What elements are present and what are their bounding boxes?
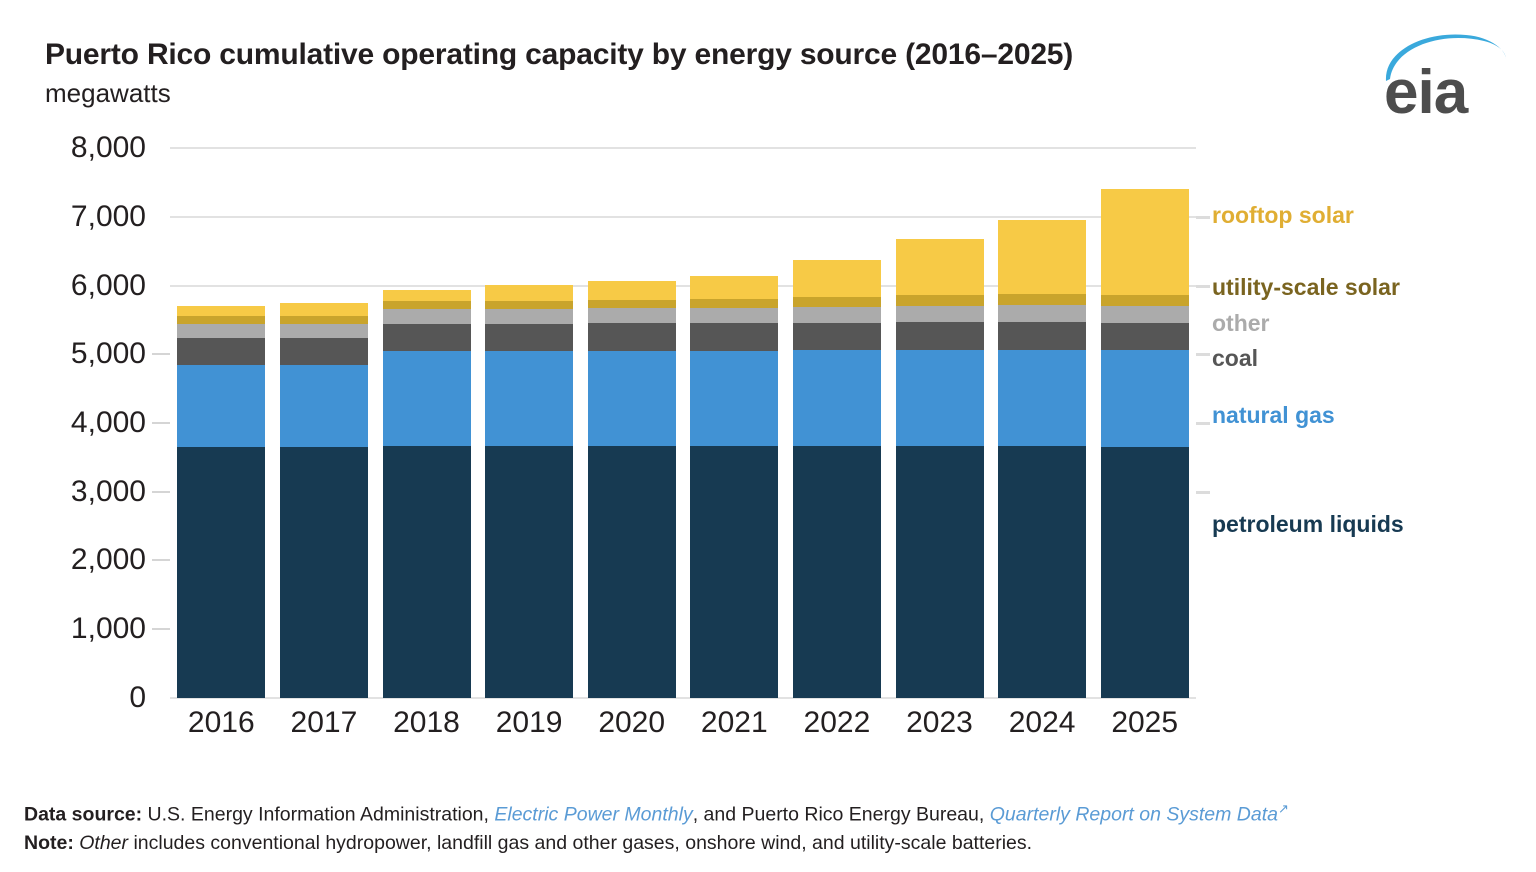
data-source-text-1: U.S. Energy Information Administration, — [148, 804, 489, 826]
y-axis-label-7000: 7,000 — [26, 200, 146, 234]
segment-other-2017[interactable] — [280, 324, 368, 338]
segment-rooftop-solar-2016[interactable] — [177, 306, 265, 316]
note-label: Note: — [24, 832, 74, 854]
data-source-line: Data source: U.S. Energy Information Adm… — [24, 800, 1484, 829]
segment-utility-scale-solar-2021[interactable] — [690, 299, 778, 308]
note-other-italic: Other — [79, 832, 128, 854]
segment-rooftop-solar-2024[interactable] — [998, 220, 1086, 295]
y-axis-label-8000: 8,000 — [26, 131, 146, 165]
segment-other-2020[interactable] — [588, 308, 676, 323]
segment-other-2021[interactable] — [690, 308, 778, 323]
electric-power-monthly-link[interactable]: Electric Power Monthly — [494, 804, 692, 826]
segment-natural-gas-2022[interactable] — [793, 350, 881, 446]
segment-coal-2018[interactable] — [383, 324, 471, 352]
segment-other-2025[interactable] — [1101, 306, 1189, 323]
segment-other-2018[interactable] — [383, 309, 471, 324]
segment-natural-gas-2020[interactable] — [588, 351, 676, 446]
segment-natural-gas-2024[interactable] — [998, 350, 1086, 446]
bar-group — [170, 148, 1196, 698]
segment-utility-scale-solar-2023[interactable] — [896, 295, 984, 306]
segment-petroleum-liquids-2022[interactable] — [793, 446, 881, 698]
x-axis-label-2020: 2020 — [580, 706, 684, 740]
tick-1000 — [152, 628, 170, 630]
segment-coal-2022[interactable] — [793, 323, 881, 351]
segment-petroleum-liquids-2016[interactable] — [177, 447, 265, 698]
segment-rooftop-solar-2018[interactable] — [383, 290, 471, 301]
segment-petroleum-liquids-2023[interactable] — [896, 446, 984, 698]
segment-petroleum-liquids-2020[interactable] — [588, 446, 676, 698]
segment-natural-gas-2018[interactable] — [383, 351, 471, 446]
legend-item-natural-gas[interactable]: natural gas — [1212, 402, 1335, 429]
segment-coal-2019[interactable] — [485, 324, 573, 352]
footer-notes: Data source: U.S. Energy Information Adm… — [24, 800, 1484, 857]
segment-rooftop-solar-2017[interactable] — [280, 303, 368, 316]
x-axis-label-2016: 2016 — [169, 706, 273, 740]
data-source-label: Data source: — [24, 804, 142, 826]
tick-5000 — [152, 353, 170, 355]
legend-tick-utility-scale-solar — [1196, 285, 1210, 288]
segment-coal-2025[interactable] — [1101, 323, 1189, 351]
segment-other-2016[interactable] — [177, 324, 265, 338]
segment-coal-2024[interactable] — [998, 322, 1086, 350]
external-link-icon: ↗ — [1278, 801, 1289, 816]
segment-rooftop-solar-2019[interactable] — [485, 285, 573, 301]
y-axis-label-2000: 2,000 — [26, 543, 146, 577]
segment-petroleum-liquids-2018[interactable] — [383, 446, 471, 698]
tick-4000 — [152, 422, 170, 424]
x-axis-label-2023: 2023 — [888, 706, 992, 740]
segment-petroleum-liquids-2025[interactable] — [1101, 447, 1189, 698]
y-axis-label-3000: 3,000 — [26, 475, 146, 509]
segment-rooftop-solar-2025[interactable] — [1101, 189, 1189, 296]
segment-utility-scale-solar-2017[interactable] — [280, 316, 368, 323]
segment-petroleum-liquids-2019[interactable] — [485, 446, 573, 698]
segment-utility-scale-solar-2020[interactable] — [588, 300, 676, 309]
segment-utility-scale-solar-2016[interactable] — [177, 316, 265, 323]
segment-utility-scale-solar-2018[interactable] — [383, 301, 471, 309]
segment-other-2022[interactable] — [793, 307, 881, 323]
quarterly-report-link[interactable]: Quarterly Report on System Data — [990, 804, 1278, 826]
segment-petroleum-liquids-2017[interactable] — [280, 447, 368, 698]
x-axis-label-2019: 2019 — [477, 706, 581, 740]
data-source-text-2: , and Puerto Rico Energy Bureau, — [693, 804, 985, 826]
legend-item-coal[interactable]: coal — [1212, 345, 1258, 372]
chart-page: Puerto Rico cumulative operating capacit… — [0, 0, 1536, 872]
note-text: includes conventional hydropower, landfi… — [133, 832, 1032, 854]
segment-coal-2020[interactable] — [588, 323, 676, 351]
segment-other-2023[interactable] — [896, 306, 984, 323]
x-axis-label-2018: 2018 — [375, 706, 479, 740]
segment-natural-gas-2019[interactable] — [485, 351, 573, 446]
y-axis-label-1000: 1,000 — [26, 612, 146, 646]
segment-petroleum-liquids-2021[interactable] — [690, 446, 778, 698]
note-line: Note: Other includes conventional hydrop… — [24, 829, 1484, 857]
segment-coal-2016[interactable] — [177, 338, 265, 366]
y-axis-label-6000: 6,000 — [26, 269, 146, 303]
x-axis-label-2017: 2017 — [272, 706, 376, 740]
segment-rooftop-solar-2022[interactable] — [793, 260, 881, 296]
legend-tick-rooftop-solar — [1196, 216, 1210, 219]
segment-utility-scale-solar-2019[interactable] — [485, 301, 573, 309]
legend-tick-petroleum-liquids — [1196, 491, 1210, 494]
segment-utility-scale-solar-2022[interactable] — [793, 297, 881, 307]
segment-natural-gas-2025[interactable] — [1101, 350, 1189, 446]
segment-natural-gas-2016[interactable] — [177, 365, 265, 447]
y-axis-label-4000: 4,000 — [26, 406, 146, 440]
x-axis-label-2022: 2022 — [785, 706, 889, 740]
segment-utility-scale-solar-2024[interactable] — [998, 294, 1086, 305]
segment-other-2019[interactable] — [485, 309, 573, 324]
segment-utility-scale-solar-2025[interactable] — [1101, 295, 1189, 306]
legend-item-petroleum-liquids[interactable]: petroleum liquids — [1212, 511, 1404, 538]
tick-3000 — [152, 491, 170, 493]
legend-tick-natural-gas — [1196, 422, 1210, 425]
legend-item-utility-scale-solar[interactable]: utility-scale solar — [1212, 274, 1400, 301]
x-axis-label-2025: 2025 — [1093, 706, 1197, 740]
segment-coal-2023[interactable] — [896, 322, 984, 350]
y-axis-label-5000: 5,000 — [26, 337, 146, 371]
segment-natural-gas-2023[interactable] — [896, 350, 984, 446]
segment-rooftop-solar-2023[interactable] — [896, 239, 984, 295]
segment-other-2024[interactable] — [998, 305, 1086, 322]
tick-2000 — [152, 559, 170, 561]
x-axis-label-2024: 2024 — [990, 706, 1094, 740]
segment-natural-gas-2021[interactable] — [690, 351, 778, 446]
segment-petroleum-liquids-2024[interactable] — [998, 446, 1086, 698]
legend-item-other[interactable]: other — [1212, 310, 1270, 337]
y-axis-label-0: 0 — [26, 681, 146, 715]
x-axis-label-2021: 2021 — [682, 706, 786, 740]
legend-item-rooftop-solar[interactable]: rooftop solar — [1212, 202, 1354, 229]
segment-rooftop-solar-2020[interactable] — [588, 281, 676, 300]
segment-rooftop-solar-2021[interactable] — [690, 276, 778, 299]
segment-natural-gas-2017[interactable] — [280, 365, 368, 447]
segment-coal-2017[interactable] — [280, 338, 368, 366]
plot-area: 8,000 7,000 6,000 5,000 4,000 3,000 2,00… — [0, 0, 1536, 760]
legend-tick-coal — [1196, 353, 1210, 356]
segment-coal-2021[interactable] — [690, 323, 778, 351]
